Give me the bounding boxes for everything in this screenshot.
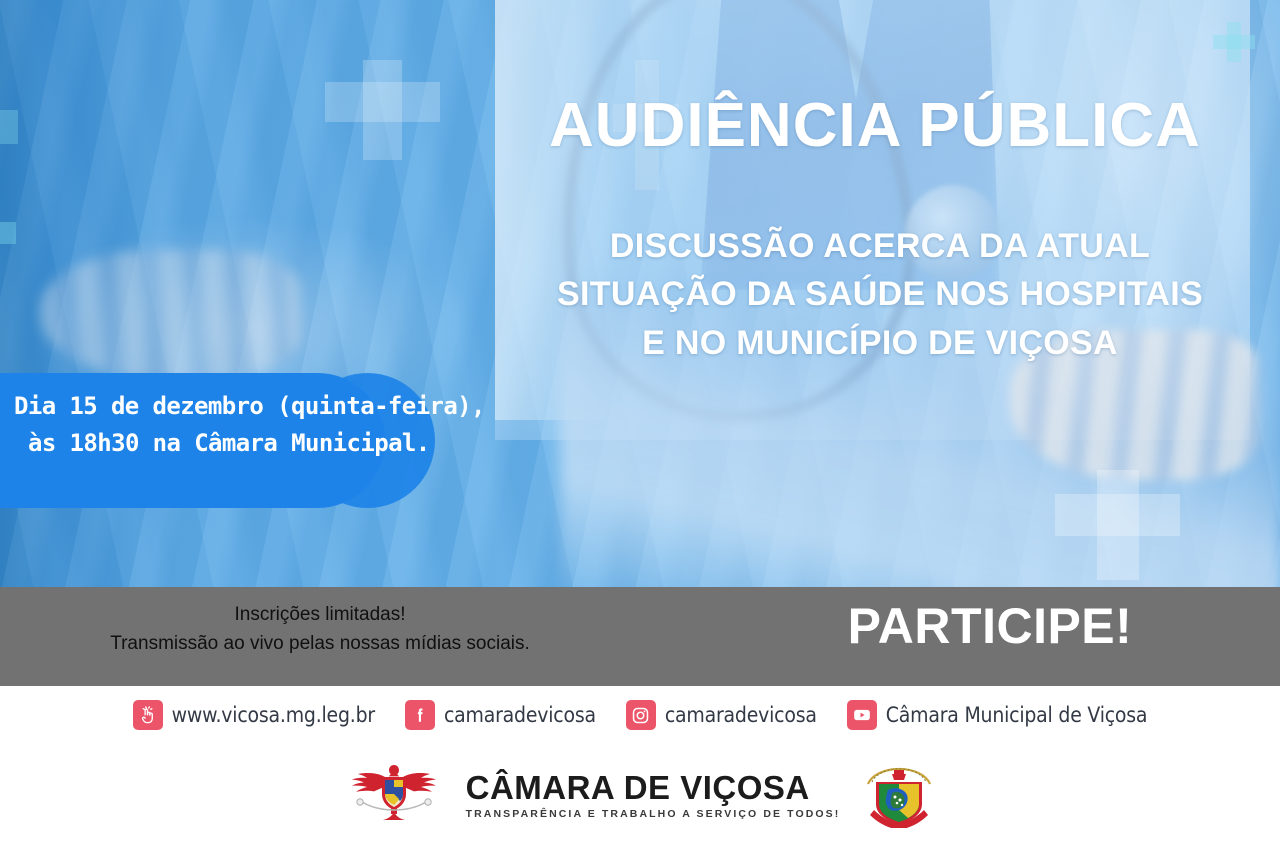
event-time-line: às 18h30 na Câmara Municipal. (14, 425, 434, 462)
subtitle-line-2: SITUAÇÃO DA SAÚDE NOS HOSPITAIS (490, 270, 1270, 318)
footer: www.vicosa.mg.leg.br camaradevicosa (0, 686, 1280, 853)
click-hand-icon (133, 700, 163, 730)
social-label-website: www.vicosa.mg.leg.br (172, 703, 375, 727)
social-link-website[interactable]: www.vicosa.mg.leg.br (133, 700, 375, 730)
social-link-youtube[interactable]: Câmara Municipal de Viçosa (847, 700, 1148, 730)
cross-decoration-bottom-right (1055, 470, 1180, 580)
social-link-instagram[interactable]: camaradevicosa (626, 700, 817, 730)
notice-text: Inscrições limitadas! Transmissão ao viv… (60, 600, 580, 659)
square-decoration-left-top (0, 110, 18, 144)
cross-decoration-top-right (1213, 22, 1255, 62)
square-decoration-left-mid (0, 222, 16, 244)
call-to-action: PARTICIPE! (790, 597, 1190, 655)
subtitle-line-1: DISCUSSÃO ACERCA DA ATUAL (490, 222, 1270, 270)
logo-wordmark: CÂMARA DE VIÇOSA TRANSPARÊNCIA E TRABALH… (466, 771, 841, 821)
page-subtitle: DISCUSSÃO ACERCA DA ATUAL SITUAÇÃO DA SA… (490, 222, 1270, 367)
page-title: AUDIÊNCIA PÚBLICA (495, 95, 1255, 157)
notice-line-1: Inscrições limitadas! (60, 600, 580, 629)
social-label-instagram: camaradevicosa (665, 703, 817, 727)
social-link-facebook[interactable]: camaradevicosa (405, 700, 596, 730)
event-datetime: Dia 15 de dezembro (quinta-feira), às 18… (14, 388, 434, 462)
logo-title: CÂMARA DE VIÇOSA (466, 771, 841, 806)
notice-line-2: Transmissão ao vivo pelas nossas mídias … (60, 629, 580, 658)
institution-logo: CÂMARA DE VIÇOSA TRANSPARÊNCIA E TRABALH… (0, 758, 1280, 833)
youtube-icon (847, 700, 877, 730)
social-label-facebook: camaradevicosa (444, 703, 596, 727)
social-label-youtube: Câmara Municipal de Viçosa (886, 703, 1148, 727)
subtitle-line-3: E NO MUNICÍPIO DE VIÇOSA (490, 319, 1270, 367)
logo-tagline: TRANSPARÊNCIA E TRABALHO A SERVIÇO DE TO… (466, 808, 841, 820)
event-date-line: Dia 15 de dezembro (quinta-feira), (14, 388, 434, 425)
facebook-icon (405, 700, 435, 730)
vicosa-coat-of-arms-icon (858, 758, 940, 833)
social-links-row: www.vicosa.mg.leg.br camaradevicosa (0, 700, 1280, 730)
cross-decoration-large (325, 60, 440, 160)
camara-eagle-crest-icon (340, 760, 448, 831)
instagram-icon (626, 700, 656, 730)
event-poster: AUDIÊNCIA PÚBLICA DISCUSSÃO ACERCA DA AT… (0, 0, 1280, 853)
